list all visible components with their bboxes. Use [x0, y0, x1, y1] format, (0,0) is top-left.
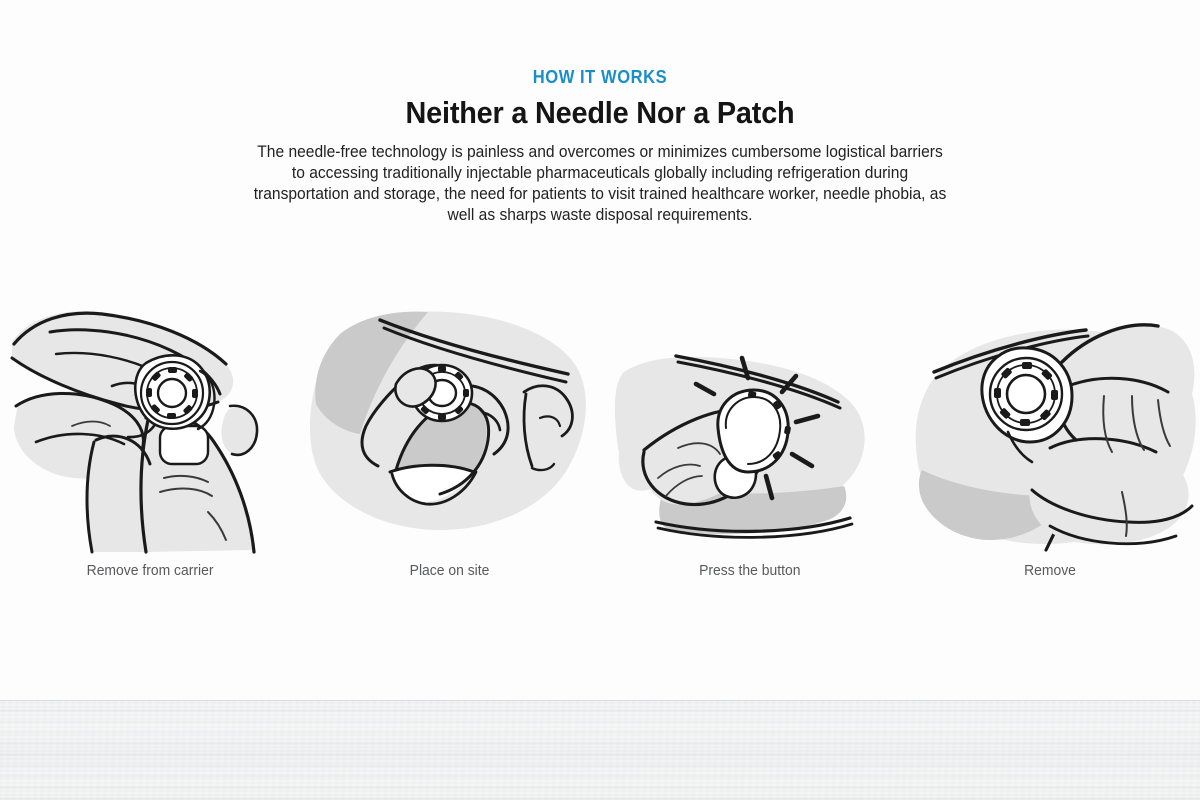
- page-title: Neither a Needle Nor a Patch: [42, 94, 1158, 132]
- step-3-illustration: [600, 300, 900, 555]
- section-header: HOW IT WORKS Neither a Needle Nor a Patc…: [0, 66, 1200, 226]
- step-3-caption: Press the button: [699, 562, 800, 580]
- step-2-illustration: [300, 300, 600, 555]
- how-it-works-page: HOW IT WORKS Neither a Needle Nor a Patc…: [0, 0, 1200, 800]
- intro-paragraph: The needle-free technology is painless a…: [250, 142, 949, 226]
- step-4-illustration: [900, 300, 1200, 555]
- hand-shape: [12, 311, 256, 552]
- step-2: Place on site: [300, 300, 600, 600]
- step-4: Remove: [900, 300, 1200, 600]
- step-4-caption: Remove: [1024, 562, 1076, 580]
- step-2-caption: Place on site: [410, 562, 490, 580]
- step-1: Remove from carrier: [0, 300, 300, 600]
- steps-row: Remove from carrier: [0, 300, 1200, 600]
- step-1-illustration: [0, 300, 300, 555]
- step-1-caption: Remove from carrier: [87, 562, 214, 580]
- section-eyebrow: HOW IT WORKS: [48, 66, 1152, 88]
- wood-texture-band: [0, 700, 1200, 800]
- fingernail: [160, 426, 208, 464]
- step-3: Press the button: [600, 300, 900, 600]
